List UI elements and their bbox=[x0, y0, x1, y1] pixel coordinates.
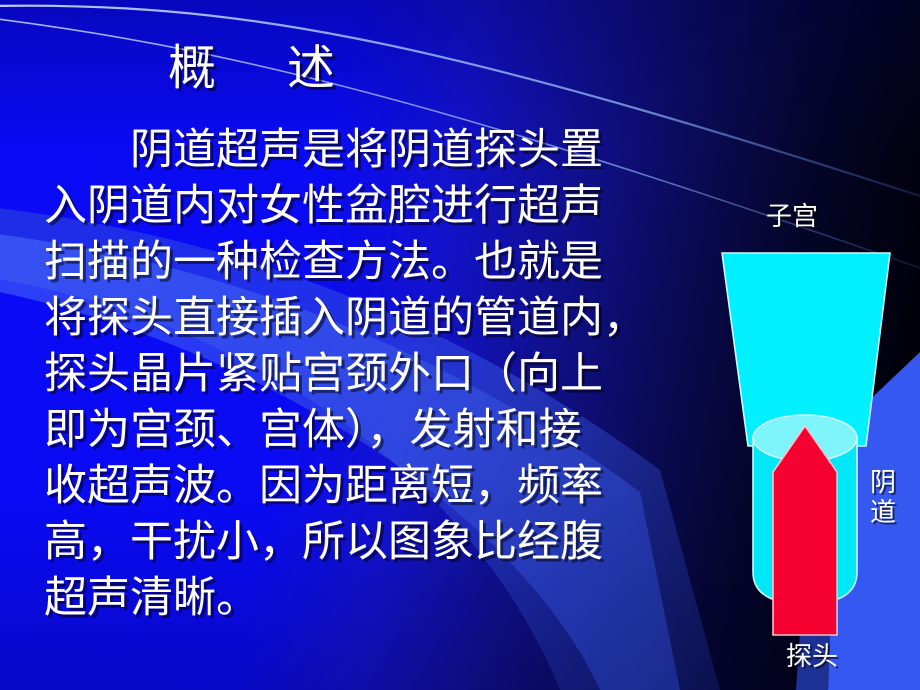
page-title: 概 述 bbox=[168, 44, 337, 92]
label-uterus: 子宫 bbox=[766, 202, 818, 232]
body-line: 扫描的一种检查方法。也就是 bbox=[44, 234, 684, 290]
slide-canvas: 概 述 阴道超声是将阴道探头置 入阴道内对女性盆腔进行超声 扫描的一种检查方法。… bbox=[0, 0, 920, 690]
body-line: 入阴道内对女性盆腔进行超声 bbox=[44, 178, 684, 234]
anatomy-diagram: 子宫 阴 道 探头 bbox=[690, 180, 920, 690]
body-line: 阴道超声是将阴道探头置 bbox=[44, 122, 684, 178]
slide-body-text: 阴道超声是将阴道探头置 入阴道内对女性盆腔进行超声 扫描的一种检查方法。也就是 … bbox=[44, 122, 684, 626]
body-line: 高，干扰小，所以图象比经腹 bbox=[44, 514, 684, 570]
body-line: 即为宫颈、宫体），发射和接 bbox=[44, 402, 684, 458]
body-line: 将探头直接插入阴道的管道内， bbox=[44, 290, 684, 346]
label-vagina: 阴 道 bbox=[868, 468, 898, 528]
probe-arrow-shape bbox=[773, 426, 837, 635]
body-line: 收超声波。因为距离短，频率 bbox=[44, 458, 684, 514]
body-line: 探头晶片紧贴宫颈外口（向上 bbox=[44, 346, 684, 402]
anatomy-diagram-svg bbox=[690, 180, 920, 690]
body-line: 超声清晰。 bbox=[44, 570, 684, 626]
label-probe: 探头 bbox=[786, 642, 838, 672]
